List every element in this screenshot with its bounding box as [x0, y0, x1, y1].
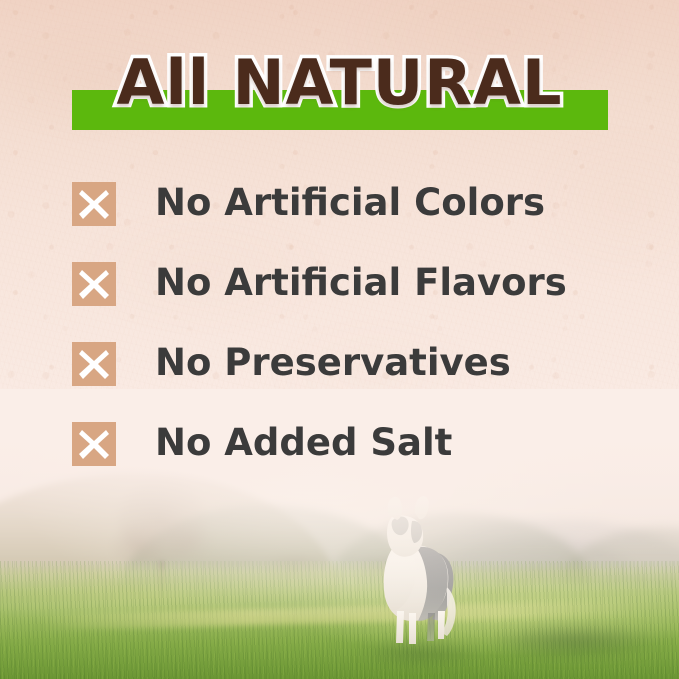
- claims-list: No Artificial Colors No Artificial Flavo…: [72, 182, 632, 502]
- page-title: All NATURAL: [0, 52, 679, 114]
- border-collie-dog: [352, 491, 472, 651]
- list-item: No Artificial Flavors: [72, 262, 632, 342]
- x-mark-icon: [72, 422, 116, 466]
- product-claims-poster: All NATURAL No Artificial Colors No Arti…: [0, 0, 679, 679]
- x-mark-icon: [72, 182, 116, 226]
- list-item: No Added Salt: [72, 422, 632, 502]
- list-item: No Artificial Colors: [72, 182, 632, 262]
- claim-label: No Added Salt: [155, 418, 452, 468]
- list-item: No Preservatives: [72, 342, 632, 422]
- claim-label: No Artificial Flavors: [155, 258, 567, 308]
- claim-label: No Preservatives: [155, 338, 511, 388]
- claim-label: No Artificial Colors: [155, 178, 545, 228]
- x-mark-icon: [72, 262, 116, 306]
- x-mark-icon: [72, 342, 116, 386]
